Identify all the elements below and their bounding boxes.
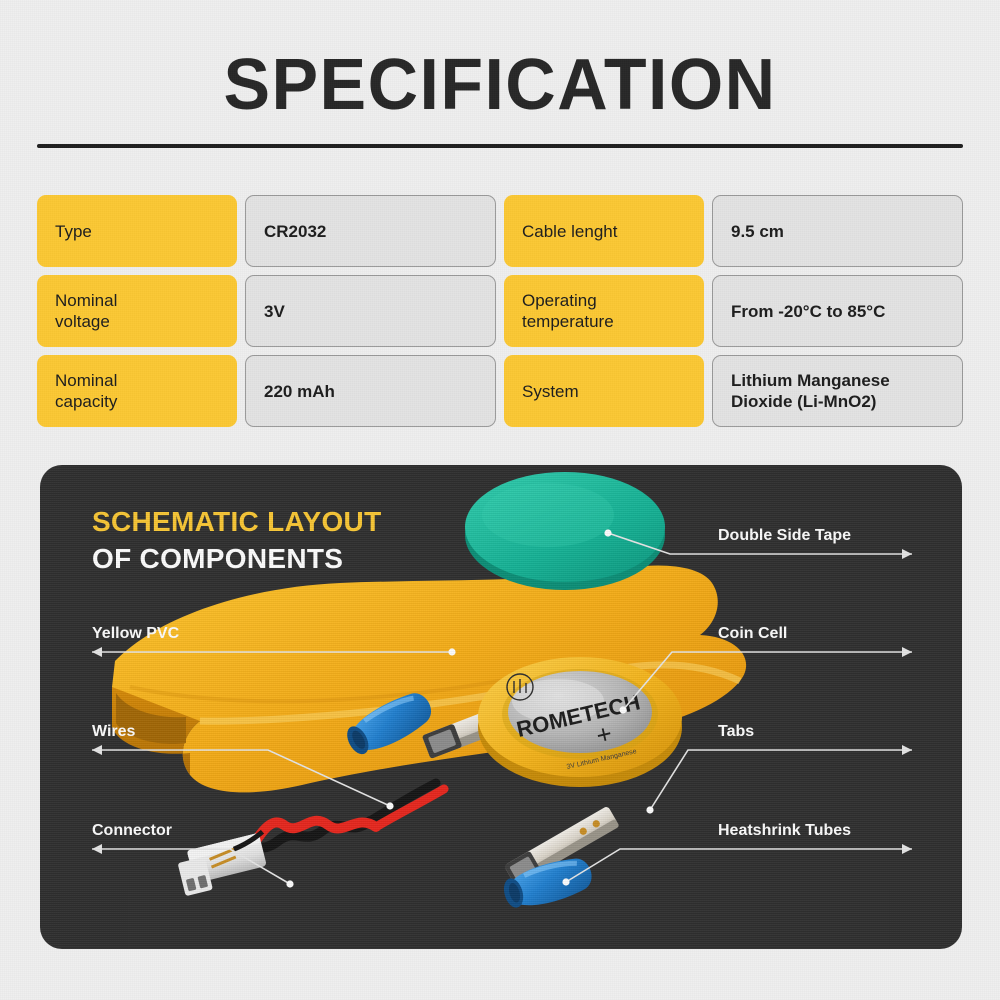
spec-table: Type CR2032 Cable lenght 9.5 cm Nominalv… (37, 195, 963, 427)
schematic-title-line1: SCHEMATIC LAYOUT (92, 505, 381, 538)
spec-value-cable-length: 9.5 cm (712, 195, 963, 267)
spec-label-operating-temperature: Operatingtemperature (504, 275, 704, 347)
spec-label-nominal-capacity: Nominalcapacity (37, 355, 237, 427)
spec-label-system: System (504, 355, 704, 427)
spec-value-type: CR2032 (245, 195, 496, 267)
callout-label-yellow-pvc: Yellow PVC (92, 624, 179, 643)
spec-label-cable-length: Cable lenght (504, 195, 704, 267)
schematic-title: SCHEMATIC LAYOUT OF COMPONENTS (92, 505, 381, 575)
schematic-panel: ROMETECH + 3V Lithium Manganese (40, 465, 962, 949)
spec-value-system: Lithium ManganeseDioxide (Li-MnO2) (712, 355, 963, 427)
spec-value-nominal-capacity: 220 mAh (245, 355, 496, 427)
callout-label-tabs: Tabs (718, 722, 754, 741)
callout-label-double-side-tape: Double Side Tape (718, 526, 851, 545)
spec-label-nominal-voltage: Nominalvoltage (37, 275, 237, 347)
callout-label-coin-cell: Coin Cell (718, 624, 787, 643)
callout-label-connector: Connector (92, 821, 172, 840)
title-divider (37, 144, 963, 148)
spec-value-nominal-voltage: 3V (245, 275, 496, 347)
spec-value-operating-temperature: From -20°C to 85°C (712, 275, 963, 347)
spec-label-type: Type (37, 195, 237, 267)
schematic-title-line2: OF COMPONENTS (92, 542, 381, 575)
specification-page: SPECIFICATION Type CR2032 Cable lenght 9… (0, 0, 1000, 1000)
callout-label-heatshrink-tubes: Heatshrink Tubes (718, 821, 851, 840)
page-title: SPECIFICATION (15, 48, 985, 122)
callout-label-wires: Wires (92, 722, 135, 741)
